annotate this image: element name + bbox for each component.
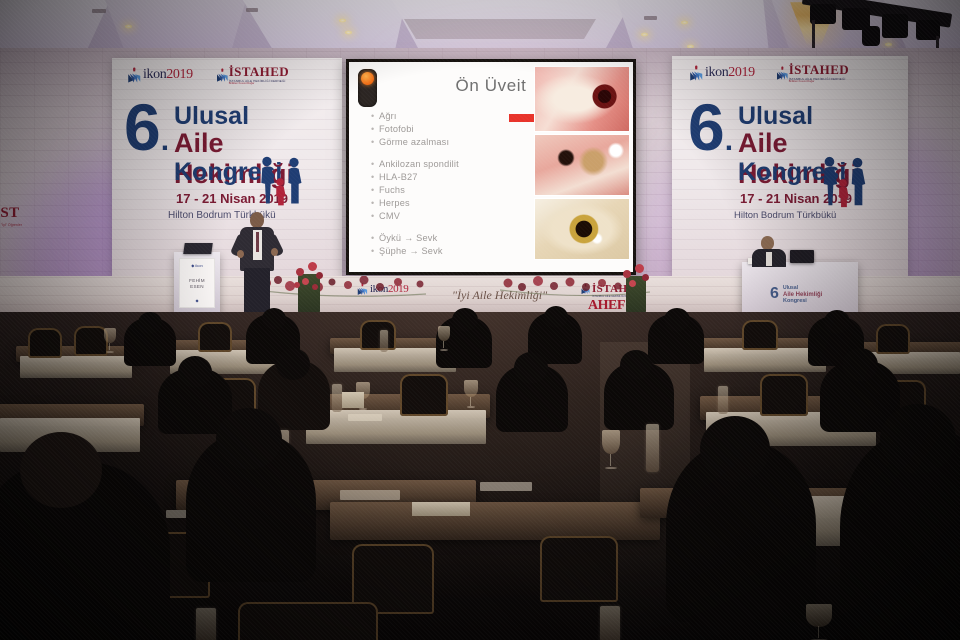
bullet-item: •CMV (371, 210, 541, 223)
moderator-silhouette-icon (752, 236, 786, 266)
banquet-chair-icon (876, 324, 910, 354)
presenter-silhouette-icon (236, 212, 280, 316)
attendee-silhouette-icon (452, 308, 478, 332)
ikon-logo-year: 2019 (166, 67, 192, 82)
desk-logo-line1: Ulusal (783, 286, 798, 291)
banner-right: ikon2019 İSTAHED İSTANBUL AİLE HEKİMLİĞİ… (672, 56, 908, 280)
banquet-chair-icon (198, 322, 232, 352)
attendee-silhouette-icon (138, 312, 162, 334)
attendee-silhouette-icon (700, 416, 770, 482)
bullet-item: •Görme azalması (371, 136, 541, 149)
bullet-item: •Fuchs (371, 184, 541, 197)
bullet-item: •Öykü → Sevk (371, 232, 541, 245)
istahed-logo-text: İSTAHED (229, 64, 289, 79)
congress-logo-icon: ◆ ikon (179, 263, 215, 268)
laptop-icon (790, 250, 814, 263)
banquet-chair-icon (238, 602, 378, 640)
wine-glass-icon (464, 380, 478, 410)
wine-glass-icon (438, 326, 450, 352)
slide-bullet-list: •Ağrı •Fotofobi •Görme azalması •Ankiloz… (371, 110, 541, 258)
congress-logo-icon: ◆ (179, 298, 215, 303)
banquet-table-icon (330, 502, 660, 540)
program-paper-icon (348, 414, 382, 421)
wall-logo-left-text: İST (0, 205, 64, 222)
banner-right-logos: ikon2019 İSTAHED İSTANBUL AİLE HEKİMLİĞİ… (688, 62, 898, 84)
family-silhouette-icon (814, 154, 872, 212)
istahed-logo-sub2: Birlikten Kuvvet Doğar (789, 81, 849, 84)
banner-left-line1: Ulusal (174, 102, 249, 131)
nameplate-icon (342, 392, 364, 408)
flower-arrangement-icon (292, 248, 326, 314)
projection-screen[interactable]: Ön Üveit •Ağrı •Fotofobi •Görme azalması… (346, 59, 636, 275)
program-paper-icon (340, 490, 400, 500)
banner-left: ikon2019 İSTAHED İSTANBUL AİLE HEKİMLİĞİ… (112, 58, 342, 280)
attendee-silhouette-icon (216, 408, 282, 470)
bullet-item: •HLA-B27 (371, 171, 541, 184)
moderator-desk-logo: 6 Ulusal Aile Hekimliği Kongresi (770, 284, 840, 310)
ceiling-vent-icon (92, 9, 106, 13)
recessed-downlight-icon (640, 32, 649, 37)
water-bottle-icon (646, 424, 659, 472)
family-silhouette-icon (252, 154, 308, 210)
banner-left-number: 6. (124, 100, 169, 154)
bullet-item: •Fotofobi (371, 123, 541, 136)
ikon-logo-text: ikon (143, 67, 166, 82)
nameplate-icon (412, 502, 470, 516)
ikon-logo-text: ikon (705, 65, 728, 80)
water-bottle-icon (718, 386, 728, 414)
istahed-logo-sub2: Birlikten Kuvvet Doğar (229, 83, 289, 86)
recessed-downlight-icon (338, 18, 347, 23)
ikon-logo-year: 2019 (728, 65, 754, 80)
attendee-silhouette-icon (262, 308, 286, 330)
attendee-silhouette-icon (276, 348, 310, 380)
banquet-chair-icon (28, 328, 62, 358)
podium-speaker-name-line2: ESEN (179, 284, 215, 290)
banquet-chair-icon (400, 374, 448, 416)
ceiling-vent-icon (644, 16, 657, 20)
attendee-silhouette-icon (514, 352, 548, 384)
recessed-downlight-icon (680, 20, 689, 25)
istahed-logo-text: İSTAHED (789, 62, 849, 77)
slide-content: Ön Üveit •Ağrı •Fotofobi •Görme azalması… (349, 62, 633, 272)
banquet-chair-icon (360, 320, 396, 350)
ikon-fan-icon (126, 66, 144, 84)
banner-right-number: 6. (688, 100, 733, 154)
water-bottle-icon (196, 608, 216, 640)
attendee-silhouette-icon (544, 306, 568, 328)
eye-photo-anterior-uveitis (534, 134, 630, 196)
attendee-silhouette-icon (664, 308, 690, 332)
attendee-silhouette-icon (880, 404, 956, 474)
laptop-icon (183, 243, 213, 254)
water-bottle-icon (380, 330, 388, 352)
bullet-item: •Şüphe → Sevk (371, 245, 541, 258)
wall-logo-left: İST Bizi "İyi" Öğrenler (0, 205, 64, 231)
banquet-chair-icon (742, 320, 778, 350)
recessed-downlight-icon (344, 30, 353, 35)
ikon-fan-icon (688, 64, 706, 82)
podium-nameplate: ◆ ikon FEHİM ESEN ◆ (179, 258, 215, 308)
water-bottle-icon (332, 384, 342, 412)
wine-glass-icon (602, 430, 620, 472)
banquet-chair-icon (540, 536, 618, 602)
wine-glass-icon (806, 604, 832, 640)
ceiling-vent-icon (246, 8, 258, 12)
bullet-item: •Ankilozan spondilit (371, 158, 541, 171)
wine-glass-icon (104, 328, 116, 354)
desk-logo-number: 6 (770, 286, 779, 302)
banquet-chair-icon (760, 374, 808, 416)
eye-photo-hypopyon (534, 66, 630, 132)
audience-hall (0, 312, 960, 640)
attendee-silhouette-icon (842, 348, 878, 382)
recessed-downlight-icon (124, 24, 133, 29)
attendee-silhouette-icon (824, 310, 850, 334)
conference-hall-scene: İST Bizi "İyi" Öğrenler ikon2019 (0, 0, 960, 640)
desk-logo-line3: Kongresi (783, 299, 807, 305)
wall-logo-left-sub: Bizi "İyi" Öğrenler (0, 223, 64, 227)
banner-right-line1: Ulusal (738, 102, 813, 131)
attendee-silhouette-icon (178, 356, 212, 388)
bullet-item: •Herpes (371, 197, 541, 210)
banquet-chair-icon (74, 326, 108, 356)
program-paper-icon (480, 482, 532, 491)
water-bottle-icon (600, 606, 620, 640)
bullet-item: •Ağrı (371, 110, 541, 123)
attendee-silhouette-icon (20, 432, 102, 508)
flower-arrangement-icon (620, 252, 652, 314)
banner-left-logos: ikon2019 İSTAHED İSTANBUL AİLE HEKİMLİĞİ… (126, 64, 334, 86)
attendee-silhouette-icon (620, 350, 652, 380)
eye-photo-keratic-precipitates (534, 198, 630, 260)
